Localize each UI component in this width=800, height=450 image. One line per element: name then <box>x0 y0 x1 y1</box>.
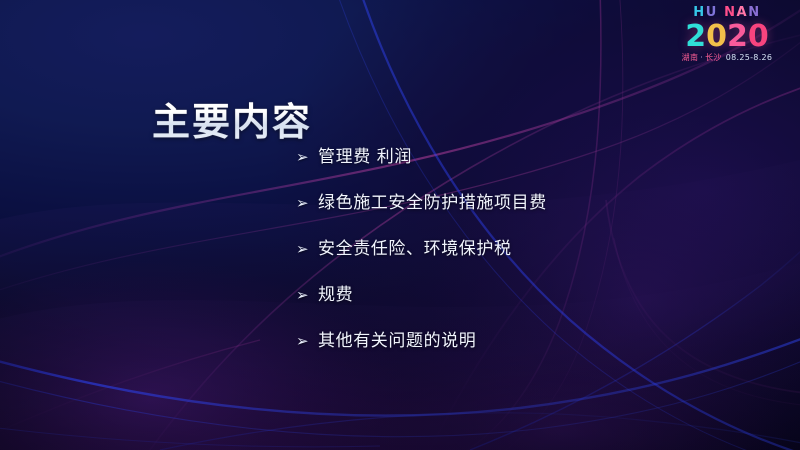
list-item: ➢ 安全责任险、环境保护税 <box>296 234 766 280</box>
list-item-label: 规费 <box>318 280 353 305</box>
event-logo-hunan-text: HU NAN <box>668 6 786 19</box>
list-item: ➢ 绿色施工安全防护措施项目费 <box>296 188 766 234</box>
logo-year-digit-3: 2 <box>727 19 748 54</box>
logo-year-digit-2: 0 <box>706 19 727 54</box>
arrow-bullet-icon: ➢ <box>296 196 318 211</box>
list-item-label: 管理费 利润 <box>318 142 412 167</box>
logo-province: 湖南 <box>682 53 699 62</box>
list-item: ➢ 其他有关问题的说明 <box>296 326 766 372</box>
arrow-bullet-icon: ➢ <box>296 242 318 257</box>
list-item-label: 其他有关问题的说明 <box>318 326 476 351</box>
logo-letter-n1: N <box>724 5 736 20</box>
logo-letter-h: H <box>693 5 705 20</box>
logo-year-digit-1: 2 <box>685 19 706 54</box>
list-item-label: 安全责任险、环境保护税 <box>318 234 512 259</box>
list-item-label: 绿色施工安全防护措施项目费 <box>318 188 547 213</box>
arrow-bullet-icon: ➢ <box>296 334 318 349</box>
logo-city: 长沙 <box>705 53 722 62</box>
presentation-slide: HU NAN 2020 湖南·长沙08.25-8.26 主要内容 ➢ 管理费 利… <box>0 0 800 450</box>
arrow-bullet-icon: ➢ <box>296 150 318 165</box>
logo-letter-a: A <box>737 5 749 20</box>
event-logo-year: 2020 <box>668 22 786 52</box>
event-logo-subtitle: 湖南·长沙08.25-8.26 <box>668 54 786 62</box>
logo-year-digit-4: 0 <box>748 19 769 54</box>
slide-title: 主要内容 <box>152 91 312 146</box>
list-item: ➢ 规费 <box>296 280 766 326</box>
logo-letter-u: U <box>706 5 718 20</box>
event-logo: HU NAN 2020 湖南·长沙08.25-8.26 <box>668 6 786 62</box>
logo-dates: 08.25-8.26 <box>722 53 773 62</box>
list-item: ➢ 管理费 利润 <box>296 142 766 188</box>
arrow-bullet-icon: ➢ <box>296 288 318 303</box>
content-bullet-list: ➢ 管理费 利润 ➢ 绿色施工安全防护措施项目费 ➢ 安全责任险、环境保护税 ➢… <box>296 142 766 372</box>
logo-letter-n2: N <box>748 5 760 20</box>
